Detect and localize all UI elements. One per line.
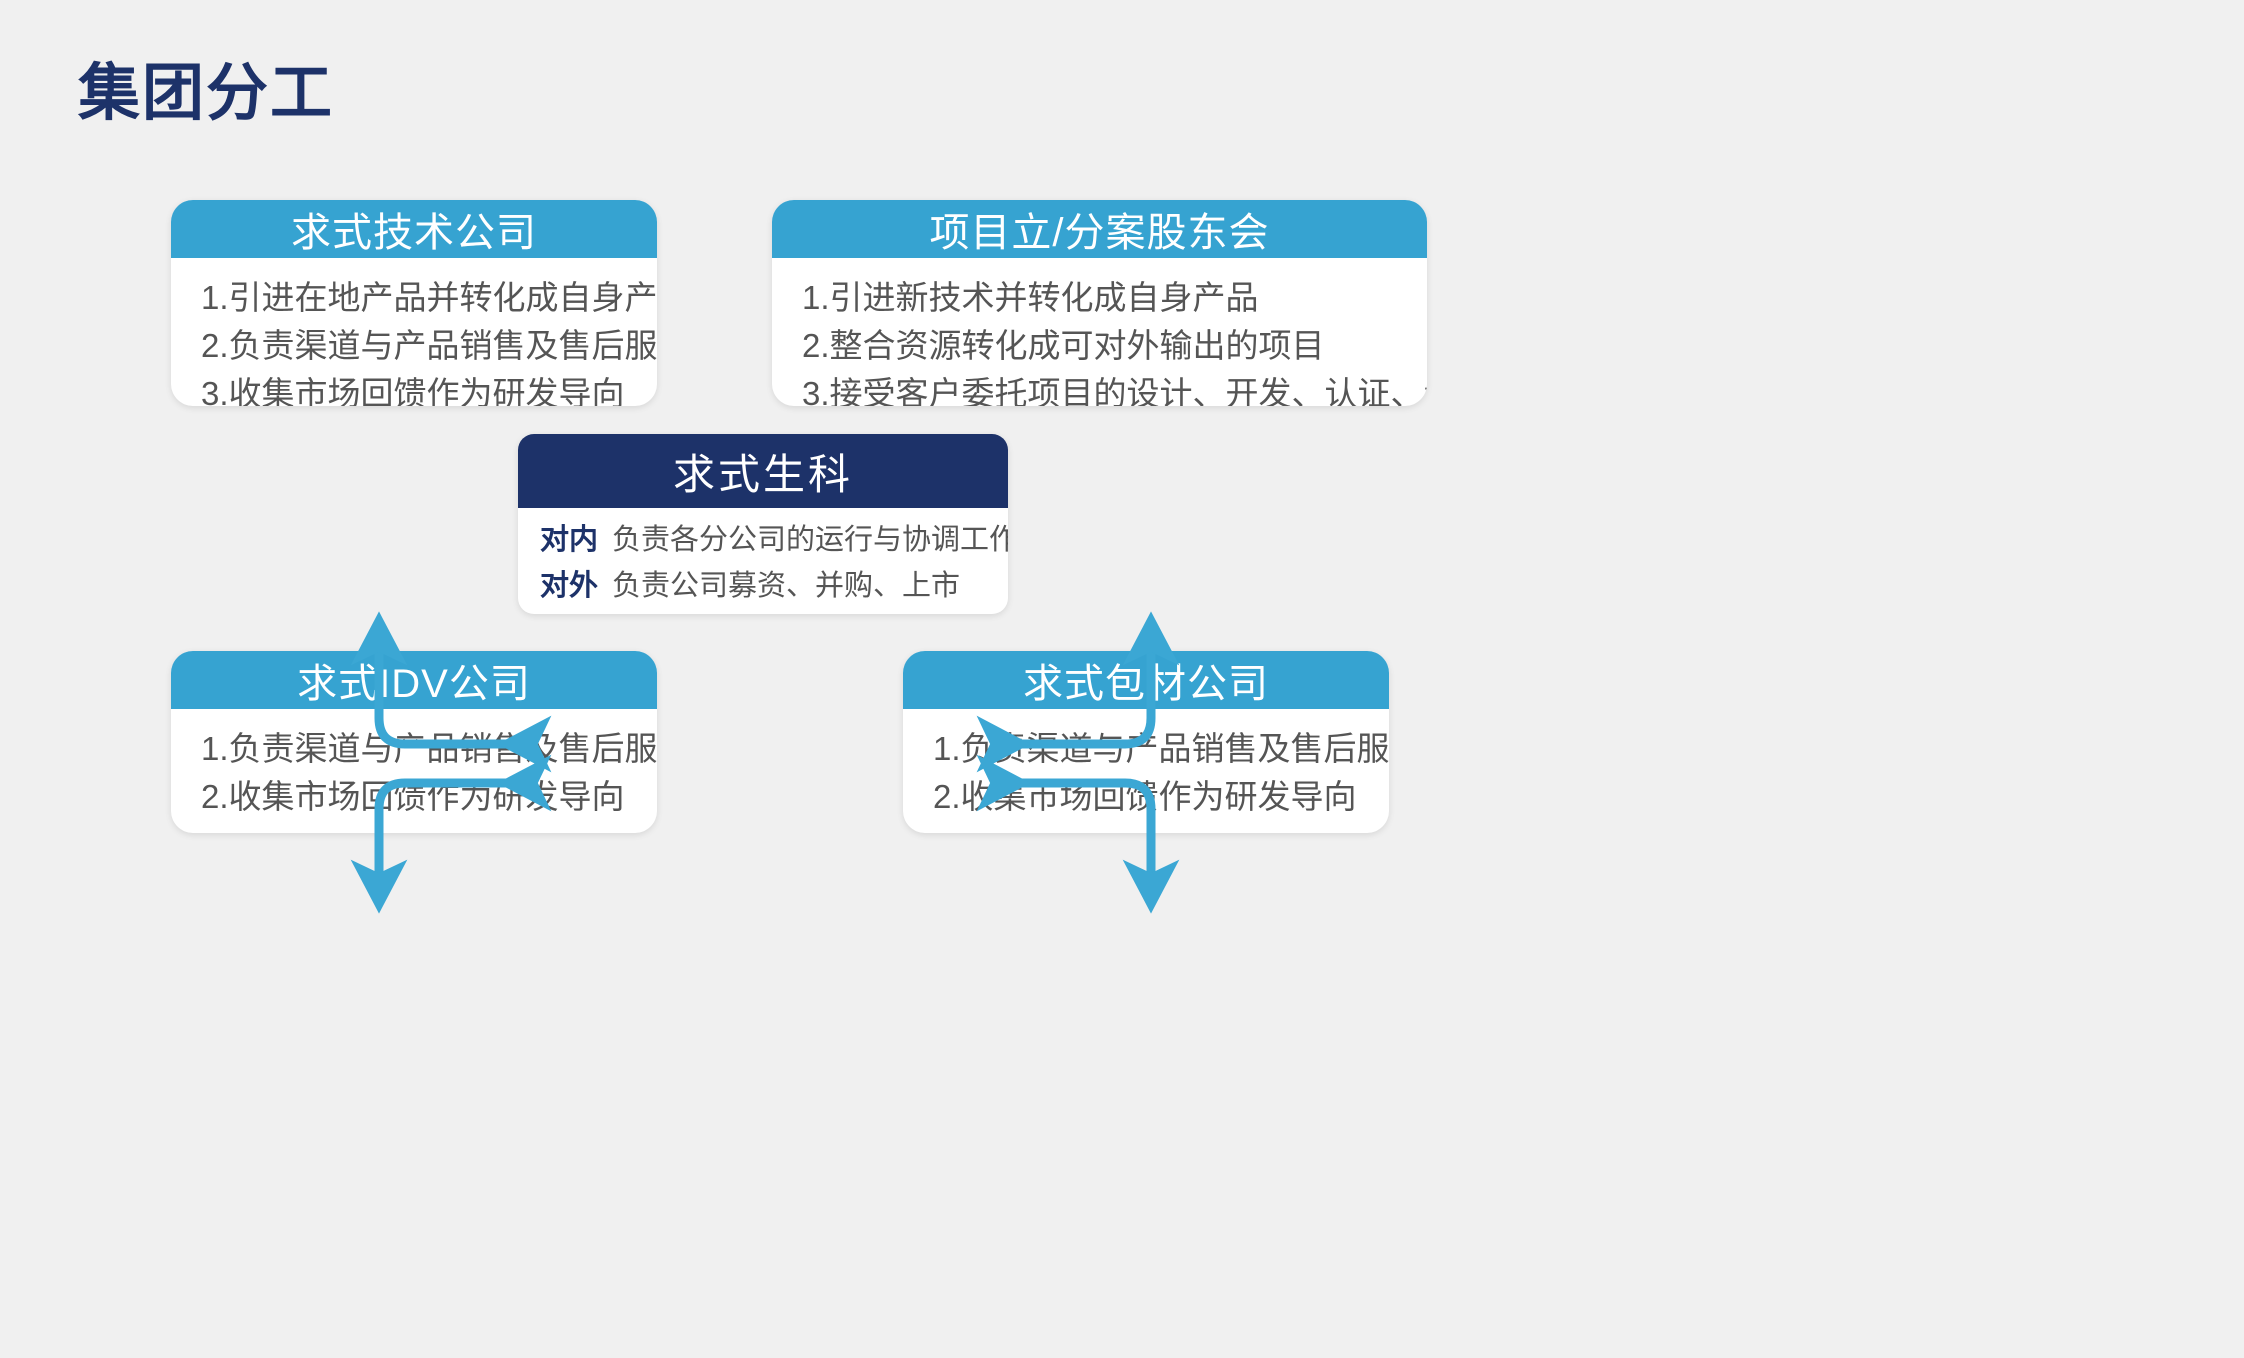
list-item: 2.整合资源转化成可对外输出的项目	[802, 322, 1401, 370]
card-tech-company[interactable]: 求式技术公司 1.引进在地产品并转化成自身产品 2.负责渠道与产品销售及售后服务…	[171, 200, 657, 406]
card-packaging-company[interactable]: 求式包材公司 1.负责渠道与产品销售及售后服务 2.收集市场回馈作为研发导向	[903, 651, 1389, 833]
card-idv-company[interactable]: 求式IDV公司 1.负责渠道与产品销售及售后服务 2.收集市场回馈作为研发导向	[171, 651, 657, 833]
card-packaging-company-body: 1.负责渠道与产品销售及售后服务 2.收集市场回馈作为研发导向	[903, 709, 1389, 833]
center-row-external: 对外 负责公司募资、并购、上市	[540, 562, 994, 604]
center-row-external-tag: 对外	[540, 562, 598, 604]
card-center-holding-title: 求式生科	[518, 434, 1008, 508]
card-project-shareholders-title: 项目立/分案股东会	[772, 200, 1427, 258]
list-item: 2.收集市场回馈作为研发导向	[201, 773, 631, 821]
center-row-external-desc: 负责公司募资、并购、上市	[612, 562, 960, 604]
list-item: 3.收集市场回馈作为研发导向	[201, 370, 631, 406]
center-row-internal-desc: 负责各分公司的运行与协调工作	[612, 516, 1008, 558]
card-tech-company-body: 1.引进在地产品并转化成自身产品 2.负责渠道与产品销售及售后服务 3.收集市场…	[171, 258, 657, 406]
center-row-internal: 对内 负责各分公司的运行与协调工作	[540, 516, 994, 558]
card-project-shareholders-body: 1.引进新技术并转化成自身产品 2.整合资源转化成可对外输出的项目 3.接受客户…	[772, 258, 1427, 406]
slide-canvas: 集团分工 求式技术公	[0, 0, 2244, 1358]
list-item: 3.接受客户委托项目的设计、开发、认证、量产专案	[802, 370, 1401, 406]
page-title: 集团分工	[78, 58, 334, 129]
list-item: 1.负责渠道与产品销售及售后服务	[933, 725, 1363, 773]
list-item: 1.引进在地产品并转化成自身产品	[201, 274, 631, 322]
card-idv-company-body: 1.负责渠道与产品销售及售后服务 2.收集市场回馈作为研发导向	[171, 709, 657, 833]
card-tech-company-title: 求式技术公司	[171, 200, 657, 258]
card-project-shareholders[interactable]: 项目立/分案股东会 1.引进新技术并转化成自身产品 2.整合资源转化成可对外输出…	[772, 200, 1427, 406]
list-item: 1.引进新技术并转化成自身产品	[802, 274, 1401, 322]
card-center-holding[interactable]: 求式生科 对内 负责各分公司的运行与协调工作 对外 负责公司募资、并购、上市	[518, 434, 1008, 614]
card-idv-company-title: 求式IDV公司	[171, 651, 657, 709]
list-item: 2.收集市场回馈作为研发导向	[933, 773, 1363, 821]
card-center-holding-body: 对内 负责各分公司的运行与协调工作 对外 负责公司募资、并购、上市	[518, 508, 1008, 614]
center-row-internal-tag: 对内	[540, 516, 598, 558]
card-packaging-company-title: 求式包材公司	[903, 651, 1389, 709]
list-item: 1.负责渠道与产品销售及售后服务	[201, 725, 631, 773]
list-item: 2.负责渠道与产品销售及售后服务	[201, 322, 631, 370]
